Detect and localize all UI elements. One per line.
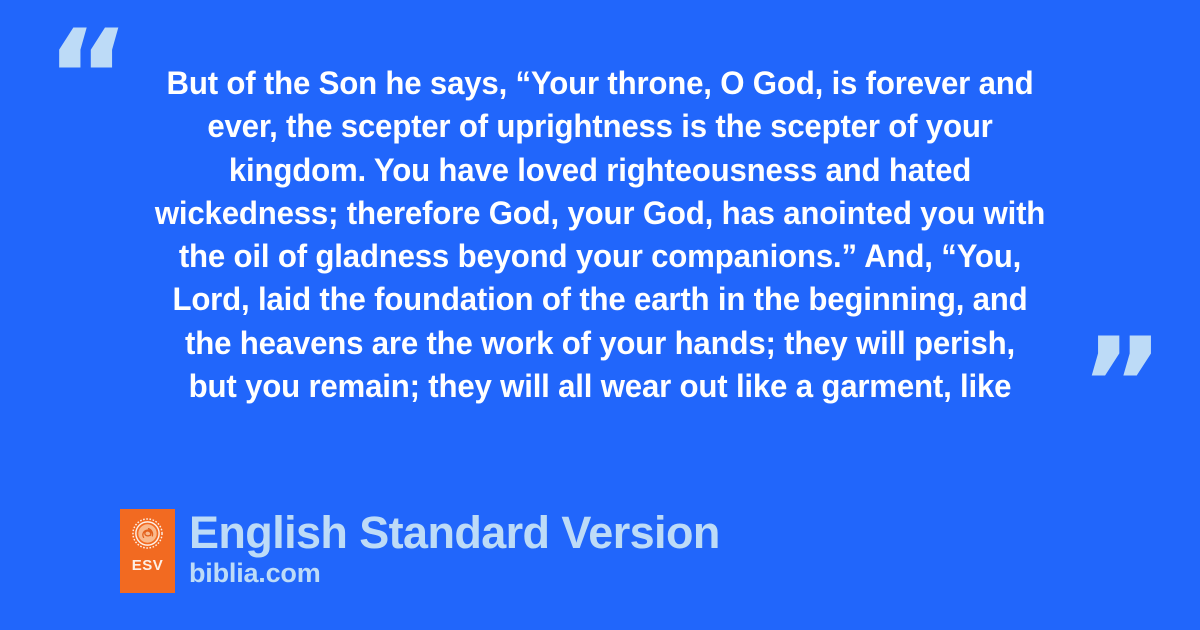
quote-line: the heavens are the work of your hands; … bbox=[120, 322, 1080, 365]
quote-line: But of the Son he says, “Your throne, O … bbox=[120, 62, 1080, 105]
brand-footer: ESV English Standard Version biblia.com bbox=[120, 509, 720, 593]
quote-line: Lord, laid the foundation of the earth i… bbox=[120, 278, 1080, 321]
esv-seal-icon bbox=[132, 518, 163, 549]
bible-verse-card: “ But of the Son he says, “Your throne, … bbox=[0, 0, 1200, 630]
closing-quote-icon: ” bbox=[1080, 322, 1164, 450]
translation-title: English Standard Version bbox=[189, 509, 720, 557]
quote-line: ever, the scepter of uprightness is the … bbox=[120, 105, 1080, 148]
quote-line: wickedness; therefore God, your God, has… bbox=[120, 192, 1080, 235]
verse-quote-text: But of the Son he says, “Your throne, O … bbox=[100, 62, 1100, 408]
quote-line: but you remain; they will all wear out l… bbox=[120, 365, 1080, 408]
site-url[interactable]: biblia.com bbox=[189, 558, 720, 588]
esv-logo-abbreviation: ESV bbox=[132, 558, 164, 573]
quote-line: kingdom. You have loved righteousness an… bbox=[120, 149, 1080, 192]
esv-logo-tile: ESV bbox=[120, 509, 175, 593]
brand-text-group: English Standard Version biblia.com bbox=[189, 509, 720, 588]
quote-line: the oil of gladness beyond your companio… bbox=[120, 235, 1080, 278]
